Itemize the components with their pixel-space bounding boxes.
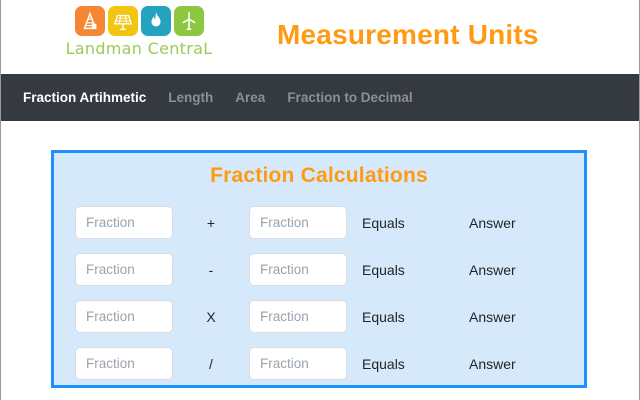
answer-label-multiply: Answer [469,309,516,325]
oil-derrick-icon [75,6,105,36]
wind-turbine-icon [174,6,204,36]
fraction-input-multiply-a[interactable] [75,300,173,333]
panel-title: Fraction Calculations [54,164,584,188]
calculation-row-add: + Equals Answer [54,199,584,246]
calculation-row-divide: / Equals Answer [54,340,584,387]
nav-item-fraction-to-decimal[interactable]: Fraction to Decimal [287,90,412,105]
logo-tiles [75,6,204,36]
fraction-input-subtract-b[interactable] [249,253,347,286]
nav-item-length[interactable]: Length [168,90,213,105]
equals-label-multiply: Equals [362,309,469,325]
nav-item-area[interactable]: Area [235,90,265,105]
operator-add: + [173,215,249,231]
main-navigation: Fraction Artihmetic Length Area Fraction… [1,74,639,121]
site-header: Landman CentraL Measurement Units [1,0,639,74]
equals-label-add: Equals [362,215,469,231]
page-title: Measurement Units [277,19,539,51]
fraction-input-add-a[interactable] [75,206,173,239]
fraction-input-divide-b[interactable] [249,347,347,380]
answer-label-subtract: Answer [469,262,516,278]
fraction-input-subtract-a[interactable] [75,253,173,286]
solar-panel-icon [108,6,138,36]
calculation-row-subtract: - Equals Answer [54,246,584,293]
fraction-input-add-b[interactable] [249,206,347,239]
fraction-calculations-panel: Fraction Calculations + Equals Answer - … [51,150,587,388]
nav-item-fraction-arithmetic[interactable]: Fraction Artihmetic [23,90,146,105]
calculation-row-multiply: X Equals Answer [54,293,584,340]
flame-icon [141,6,171,36]
operator-subtract: - [173,262,249,278]
equals-label-subtract: Equals [362,262,469,278]
fraction-input-divide-a[interactable] [75,347,173,380]
brand-logo[interactable]: Landman CentraL [63,6,215,58]
answer-label-divide: Answer [469,356,516,372]
fraction-input-multiply-b[interactable] [249,300,347,333]
page-root: Landman CentraL Measurement Units Fracti… [0,0,640,400]
operator-multiply: X [173,309,249,325]
equals-label-divide: Equals [362,356,469,372]
calculation-rows: + Equals Answer - Equals Answer X Equals… [54,199,584,387]
brand-name: Landman CentraL [66,39,213,58]
answer-label-add: Answer [469,215,516,231]
operator-divide: / [173,356,249,372]
